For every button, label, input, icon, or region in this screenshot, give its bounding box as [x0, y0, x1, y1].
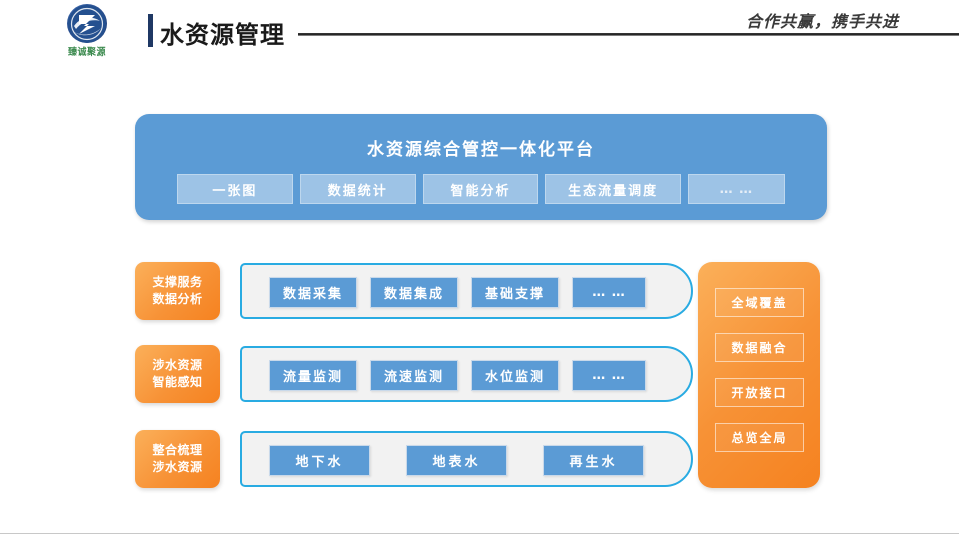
chip-water-level-monitoring[interactable]: 水位监测 [471, 360, 559, 391]
layer-label-line2: 数据分析 [152, 291, 202, 308]
platform-button-one-map[interactable]: 一张图 [177, 174, 293, 204]
layer-chip-group: 流量监测 流速监测 水位监测 … … [269, 360, 646, 391]
chip-more[interactable]: … … [572, 277, 646, 308]
layer-track-support-services: 数据采集 数据集成 基础支撑 … … [240, 263, 693, 319]
benefit-data-fusion[interactable]: 数据融合 [715, 333, 804, 362]
company-logo: 臻诚聚源 [46, 4, 128, 58]
header-tagline: 合作共赢，携手共进 [746, 8, 899, 32]
layer-label-support-services: 支撑服务 数据分析 [135, 262, 220, 320]
layer-row-smart-sensing: 涉水资源 智能感知 流量监测 流速监测 水位监测 … … [135, 345, 693, 403]
layer-label-line2: 智能感知 [152, 374, 202, 391]
platform-button-more[interactable]: … … [688, 174, 785, 204]
layer-row-support-services: 支撑服务 数据分析 数据采集 数据集成 基础支撑 … … [135, 262, 693, 320]
benefit-global-overview[interactable]: 总览全局 [715, 423, 804, 452]
benefit-open-interface[interactable]: 开放接口 [715, 378, 804, 407]
layer-label-line1: 涉水资源 [152, 357, 202, 374]
chip-data-collection[interactable]: 数据采集 [269, 277, 357, 308]
footer-divider [0, 533, 959, 534]
chip-more[interactable]: … … [572, 360, 646, 391]
platform-button-smart-analysis[interactable]: 智能分析 [423, 174, 539, 204]
page-header: 臻诚聚源 水资源管理 合作共赢，携手共进 [0, 0, 959, 62]
layer-label-smart-sensing: 涉水资源 智能感知 [135, 345, 220, 403]
benefit-full-coverage[interactable]: 全域覆盖 [715, 288, 804, 317]
platform-button-data-statistics[interactable]: 数据统计 [300, 174, 416, 204]
platform-title: 水资源综合管控一体化平台 [135, 135, 827, 160]
circular-z-emblem-icon [67, 4, 107, 43]
chip-groundwater[interactable]: 地下水 [269, 445, 370, 476]
chip-basic-support[interactable]: 基础支撑 [471, 277, 559, 308]
layer-label-line1: 支撑服务 [152, 274, 202, 291]
chip-flow-monitoring[interactable]: 流量监测 [269, 360, 357, 391]
title-accent-bar [148, 14, 153, 47]
benefits-panel: 全域覆盖 数据融合 开放接口 总览全局 [698, 262, 820, 488]
layer-label-line2: 涉水资源 [152, 459, 202, 476]
chip-surface-water[interactable]: 地表水 [406, 445, 507, 476]
layer-track-smart-sensing: 流量监测 流速监测 水位监测 … … [240, 346, 693, 402]
chip-data-integration[interactable]: 数据集成 [370, 277, 458, 308]
platform-button-eco-flow-dispatch[interactable]: 生态流量调度 [545, 174, 680, 204]
page-title: 水资源管理 [160, 15, 285, 50]
layer-row-resource-consolidation: 整合梳理 涉水资源 地下水 地表水 再生水 [135, 430, 693, 488]
chip-velocity-monitoring[interactable]: 流速监测 [370, 360, 458, 391]
layer-track-resource-consolidation: 地下水 地表水 再生水 [240, 431, 693, 487]
layer-label-line1: 整合梳理 [152, 442, 202, 459]
layer-chip-group: 数据采集 数据集成 基础支撑 … … [269, 277, 646, 308]
header-divider [298, 33, 959, 36]
platform-button-group: 一张图 数据统计 智能分析 生态流量调度 … … [177, 174, 785, 204]
layer-label-resource-consolidation: 整合梳理 涉水资源 [135, 430, 220, 488]
layer-chip-group: 地下水 地表水 再生水 [269, 445, 644, 476]
platform-panel: 水资源综合管控一体化平台 一张图 数据统计 智能分析 生态流量调度 … … [135, 114, 827, 220]
logo-wordmark: 臻诚聚源 [68, 45, 106, 59]
chip-reclaimed-water[interactable]: 再生水 [543, 445, 644, 476]
